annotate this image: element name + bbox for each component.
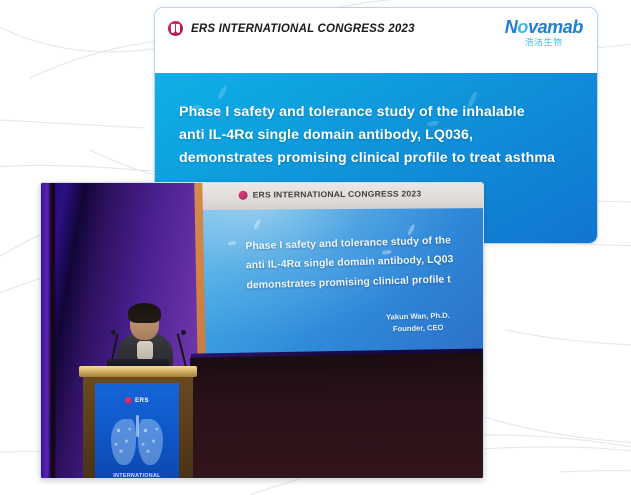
speaker-hair <box>128 303 161 323</box>
slide-title-line: demonstrates promising clinical profile … <box>179 147 573 170</box>
stage-wall-lower <box>190 352 484 479</box>
slide-title: Phase I safety and tolerance study of th… <box>179 101 573 170</box>
decorative-fleck <box>217 85 228 101</box>
slide-title-line: anti IL-4Rα single domain antibody, LQ03… <box>179 124 573 147</box>
lung-graphic-left <box>111 419 136 465</box>
lectern-footer-text: INTERNATIONAL <box>95 473 179 479</box>
ers-logo: ERS INTERNATIONAL CONGRESS 2023 <box>168 21 415 36</box>
ers-lungs-icon <box>168 21 183 36</box>
ers-lungs-icon <box>239 190 248 199</box>
novamab-chinese-name: 浩洁生物 <box>505 38 583 47</box>
novamab-wordmark-accent: o <box>517 17 528 37</box>
microphone-head <box>181 330 186 335</box>
lectern-branding-panel: ERS INTERNATIONAL <box>95 383 179 479</box>
novamab-wordmark-prefix: N <box>505 17 518 37</box>
projected-slide-title: Phase I safety and tolerance study of th… <box>245 229 484 295</box>
ers-lungs-icon <box>125 397 132 404</box>
novamab-logo: Novamab 浩洁生物 <box>505 18 583 47</box>
slide-title-line: Phase I safety and tolerance study of th… <box>179 101 573 124</box>
congress-title: ERS INTERNATIONAL CONGRESS 2023 <box>191 23 415 35</box>
novamab-wordmark-suffix: vamab <box>528 17 583 37</box>
lectern-top <box>79 366 197 377</box>
lung-graphic-right <box>138 419 163 465</box>
projected-congress-title: ERS INTERNATIONAL CONGRESS 2023 <box>253 189 422 200</box>
trachea-graphic <box>136 415 139 437</box>
wall-seam <box>49 183 56 478</box>
slide-header: ERS INTERNATIONAL CONGRESS 2023 Novamab … <box>155 8 597 73</box>
lectern-ers-logo: ERS <box>95 397 179 404</box>
screenshot-stage: ERS INTERNATIONAL CONGRESS 2023 Novamab … <box>0 0 631 495</box>
novamab-wordmark: Novamab <box>505 18 583 36</box>
projected-slide-header: ERS INTERNATIONAL CONGRESS 2023 <box>202 182 484 210</box>
conference-photo: ERS INTERNATIONAL CONGRESS 2023 Phase I … <box>40 182 484 479</box>
speaker-glasses <box>132 321 157 327</box>
projected-slide-author: Yakun Wan, Ph.D. Founder, CEO <box>353 309 484 336</box>
microphone-head <box>111 330 116 335</box>
projection-screen: ERS INTERNATIONAL CONGRESS 2023 Phase I … <box>202 182 484 360</box>
lectern-brand-text: ERS <box>135 397 149 404</box>
